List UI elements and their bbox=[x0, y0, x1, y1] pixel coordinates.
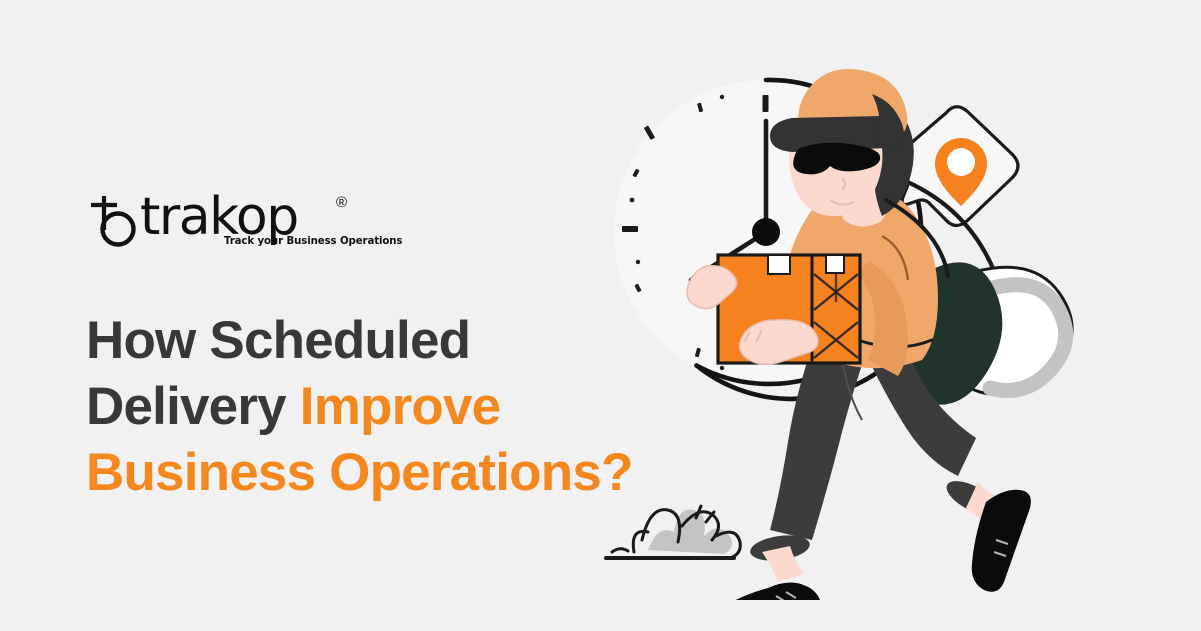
headline-text-2-accent: Improve bbox=[300, 377, 501, 436]
registered-trademark-symbol: ® bbox=[336, 194, 347, 211]
trakop-mark-icon bbox=[88, 192, 146, 250]
brand-tagline: Track your Business Operations bbox=[224, 236, 402, 247]
motion-dust-puff bbox=[606, 506, 740, 558]
clock-center-pin bbox=[752, 218, 780, 246]
shoe-left bbox=[721, 582, 822, 600]
blog-banner: trakop ® Track your Business Operations … bbox=[0, 0, 1201, 631]
headline-text-1: How Scheduled bbox=[86, 311, 470, 370]
delivery-courier-with-clock-illustration bbox=[590, 40, 1150, 600]
box-label-left bbox=[768, 255, 790, 274]
brand-logo[interactable]: trakop ® Track your Business Operations bbox=[88, 188, 388, 258]
box-label-right bbox=[826, 255, 844, 273]
headline-text-2-dark: Delivery bbox=[86, 377, 300, 436]
headline-text-3-accent: Business Operations? bbox=[86, 443, 633, 502]
